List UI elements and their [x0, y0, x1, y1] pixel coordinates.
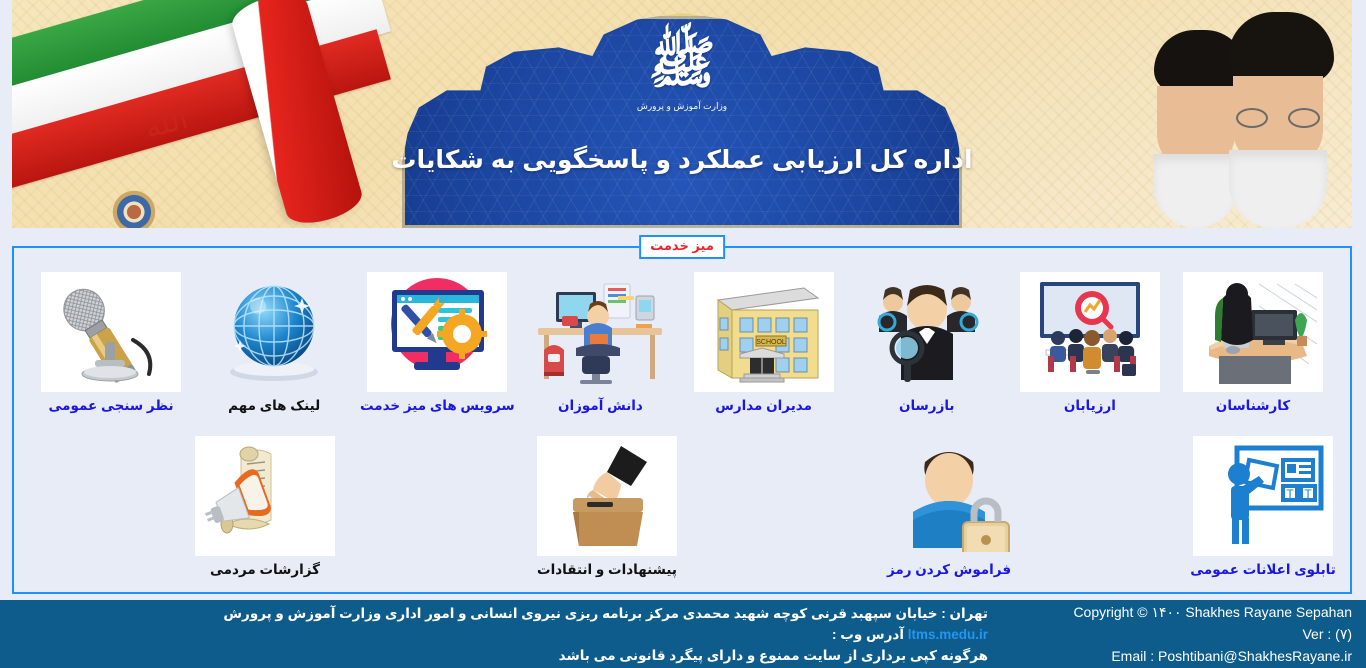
service-tile-public-survey[interactable]: نظر سنجی عمومی [36, 272, 186, 414]
service-tile-public-bulletin-board[interactable]: T T تابلوی اعلانات عمومی [1188, 436, 1338, 578]
service-desk-icon [367, 272, 507, 392]
service-tile-forgot-password[interactable]: فراموش کردن رمز [874, 436, 1024, 578]
site-footer: Copyright © ۱۴۰۰ Shakhes Rayane Sepahan … [0, 600, 1366, 668]
service-tile-school-principals[interactable]: SCHOOL مدیران مدارس [689, 272, 839, 414]
service-label: بازرسان [899, 398, 955, 414]
iran-flag-ribbon-icon: الله [20, 0, 320, 228]
service-label: ارزیابان [1064, 398, 1116, 414]
megaphone-scroll-icon [195, 436, 335, 556]
footer-address: تهران : خیابان سپهبد قرنی کوچه شهید محمد… [0, 603, 988, 624]
globe-icon [204, 272, 344, 392]
service-tile-important-links[interactable]: لینک های مهم [199, 272, 349, 414]
ballot-box-icon [537, 436, 677, 556]
banner-plaque: ﷺ وزارت آموزش و پرورش اداره کل ارزیابی ع… [402, 13, 962, 228]
iran-emblem-icon: ﷺ [648, 35, 716, 91]
banner-title: اداره کل ارزیابی عملکرد و پاسخگویی به شک… [391, 145, 972, 175]
service-label: کارشناسان [1216, 398, 1290, 414]
service-label: دانش آموزان [558, 398, 643, 414]
footer-copyright-block: Copyright © ۱۴۰۰ Shakhes Rayane Sepahan … [1006, 601, 1366, 667]
service-label: فراموش کردن رمز [887, 562, 1011, 578]
footer-address-block: تهران : خیابان سپهبد قرنی کوچه شهید محمد… [0, 603, 1006, 666]
svg-text:T: T [1304, 487, 1312, 501]
service-label: سرویس های میز خدمت [360, 398, 515, 414]
service-label: مدیران مدارس [715, 398, 812, 414]
service-desk-tab[interactable]: میز خدمت [639, 235, 725, 259]
footer-web-line: ltms.medu.ir آدرس وب : [0, 624, 988, 645]
service-label: پیشنهادات و انتقادات [537, 562, 677, 578]
footer-legal: هرگونه کپی برداری از سایت ممنوع و دارای … [0, 645, 988, 666]
service-tile-service-desk-services[interactable]: سرویس های میز خدمت [362, 272, 512, 414]
footer-web-link[interactable]: ltms.medu.ir [908, 627, 988, 642]
evaluators-meeting-icon [1020, 272, 1160, 392]
service-tile-evaluators[interactable]: ارزیابان [1015, 272, 1165, 414]
svg-text:SCHOOL: SCHOOL [756, 339, 786, 346]
expert-desk-icon [1183, 272, 1323, 392]
service-label: لینک های مهم [228, 398, 320, 414]
footer-web-label: آدرس وب : [832, 627, 904, 642]
service-tile-inspectors[interactable]: بازرسان [852, 272, 1002, 414]
leader-portrait-khamenei [1222, 12, 1334, 228]
forgot-password-icon [879, 436, 1019, 556]
footer-copyright: Copyright © ۱۴۰۰ Shakhes Rayane Sepahan [1006, 601, 1352, 623]
service-tile-suggestions-complaints[interactable]: پیشنهادات و انتقادات [532, 436, 682, 578]
service-desk-section: میز خدمت [12, 246, 1352, 594]
service-label: گزارشات مردمی [210, 562, 320, 578]
glasses-icon [1236, 108, 1320, 128]
school-building-icon: SCHOOL [694, 272, 834, 392]
ministry-line: وزارت آموزش و پرورش [637, 101, 727, 112]
footer-version: Ver : (۷) [1006, 623, 1352, 645]
service-tile-public-reports[interactable]: گزارشات مردمی [190, 436, 340, 578]
service-label: نظر سنجی عمومی [49, 398, 174, 414]
student-desk-icon [530, 272, 670, 392]
service-label: تابلوی اعلانات عمومی [1190, 562, 1336, 578]
microphone-icon [41, 272, 181, 392]
service-row-1: کارشناسان [24, 272, 1340, 414]
bulletin-board-icon: T T [1193, 436, 1333, 556]
svg-text:T: T [1286, 487, 1294, 501]
service-tile-students[interactable]: دانش آموزان [525, 272, 675, 414]
service-row-2: T T تابلوی اعلانات عمومی [24, 428, 1340, 578]
footer-email: Email : Poshtibani@ShakhesRayane.ir [1006, 645, 1352, 667]
supreme-leaders-portrait-icon [1144, 0, 1334, 228]
inspectors-icon [857, 272, 997, 392]
service-tile-experts[interactable]: کارشناسان [1178, 272, 1328, 414]
service-desk-panel: کارشناسان [12, 246, 1352, 594]
site-banner: الله ﷺ وزارت آموزش و پرورش اداره کل ارزی… [12, 0, 1352, 228]
